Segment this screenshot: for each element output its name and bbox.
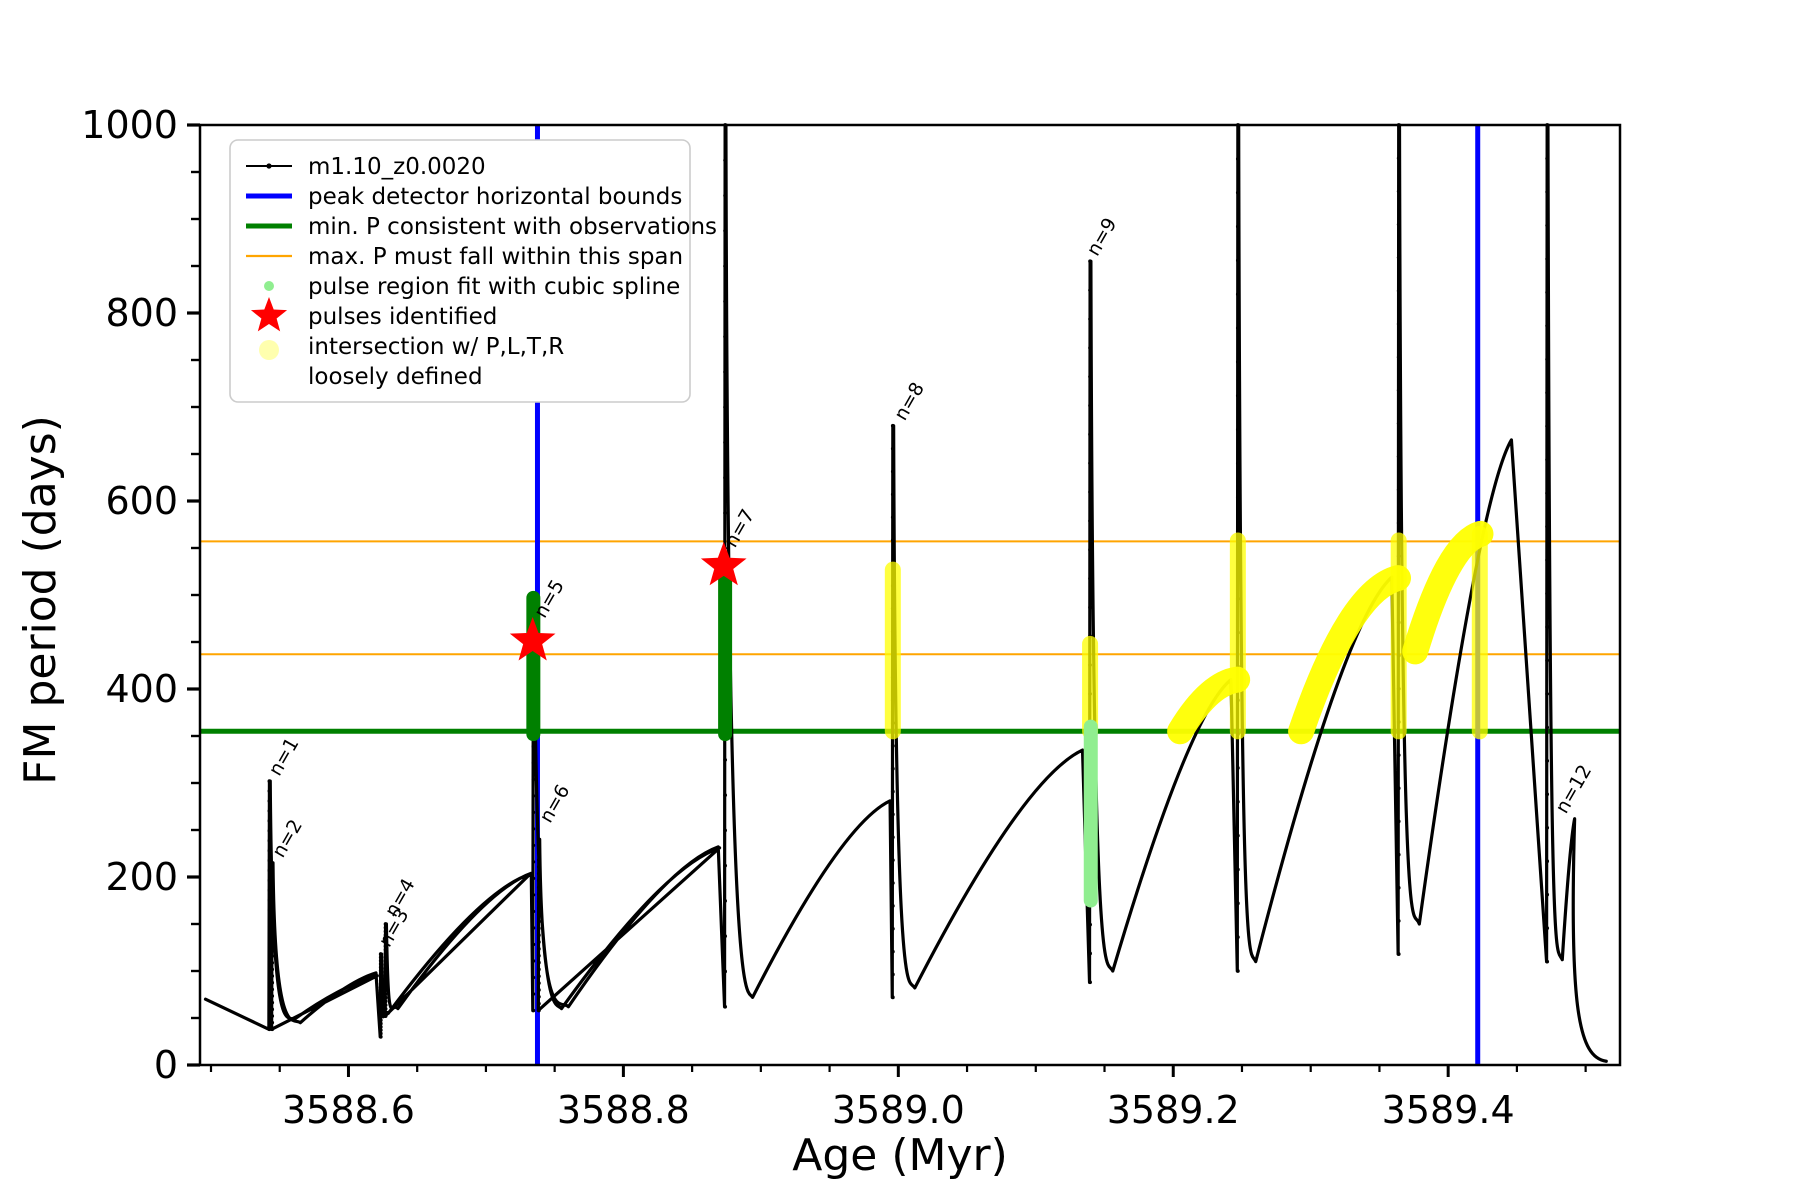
track-dot xyxy=(531,811,535,815)
track-dot xyxy=(537,851,541,855)
track-dot xyxy=(1397,289,1401,293)
track-dot xyxy=(537,968,541,972)
track-dot xyxy=(537,947,541,951)
track-dot xyxy=(268,829,272,833)
track-dot xyxy=(723,264,727,268)
track-dot xyxy=(379,962,383,966)
track-dot xyxy=(270,974,274,978)
track-dot xyxy=(268,779,272,783)
track-dot xyxy=(270,908,274,912)
x-tick-label: 3589.0 xyxy=(832,1088,965,1132)
legend-dot-swatch xyxy=(259,340,279,360)
track-dot xyxy=(384,1003,388,1007)
track-dot xyxy=(270,914,274,918)
track-dot xyxy=(723,1005,727,1009)
track-dot xyxy=(1545,659,1549,663)
x-axis-label: Age (Myr) xyxy=(0,1130,1800,1181)
track-dot xyxy=(891,904,895,908)
track-dot xyxy=(1088,490,1092,494)
chart-legend[interactable]: m1.10_z0.0020peak detector horizontal bo… xyxy=(230,140,717,402)
track-dot xyxy=(1545,859,1549,863)
track-dot xyxy=(379,985,383,989)
track-dot xyxy=(537,865,541,869)
track-dot xyxy=(379,982,383,986)
track-dot xyxy=(1545,190,1549,194)
track-dot xyxy=(723,934,727,938)
y-tick-label: 800 xyxy=(105,291,178,335)
track-dot xyxy=(1545,625,1549,629)
track-dot xyxy=(379,1002,383,1006)
track-dot xyxy=(270,928,274,932)
track-dot xyxy=(1088,548,1092,552)
track-dot xyxy=(531,827,535,831)
track-dot xyxy=(1545,491,1549,495)
track-dot xyxy=(537,920,541,924)
track-dot xyxy=(1397,919,1401,923)
track-dot xyxy=(379,955,383,959)
track-dot xyxy=(1236,225,1240,229)
track-dot xyxy=(723,793,727,797)
track-dot xyxy=(384,955,388,959)
track-dot xyxy=(1236,191,1240,195)
track-dot xyxy=(268,938,272,942)
track-dot xyxy=(1545,558,1549,562)
track-dot xyxy=(723,511,727,515)
track-dot xyxy=(537,961,541,965)
track-dot xyxy=(1236,901,1240,905)
legend-dot-swatch xyxy=(264,281,274,291)
track-dot xyxy=(1088,317,1092,321)
track-dot xyxy=(1545,458,1549,462)
track-dot xyxy=(270,894,274,898)
track-dot xyxy=(384,974,388,978)
track-dot xyxy=(379,1035,383,1039)
track-dot xyxy=(1397,256,1401,260)
track-dot xyxy=(1545,893,1549,897)
track-dot xyxy=(1088,923,1092,927)
track-dot xyxy=(537,879,541,883)
track-dot xyxy=(379,995,383,999)
track-dot xyxy=(891,858,895,862)
track-dot xyxy=(379,972,383,976)
track-dot xyxy=(384,952,388,956)
track-dot xyxy=(1397,388,1401,392)
track-dot xyxy=(379,959,383,963)
track-dot xyxy=(1088,404,1092,408)
track-dot xyxy=(1397,952,1401,956)
track-dot xyxy=(723,229,727,233)
track-dot xyxy=(270,948,274,952)
track-dot xyxy=(723,441,727,445)
track-dot xyxy=(1088,346,1092,350)
track-dot xyxy=(270,934,274,938)
track-dot xyxy=(723,299,727,303)
track-dot xyxy=(1545,290,1549,294)
track-dot xyxy=(1545,525,1549,529)
track-dot xyxy=(379,999,383,1003)
track-dot xyxy=(531,777,535,781)
track-dot xyxy=(1236,766,1240,770)
track-dot xyxy=(531,926,535,930)
track-dot xyxy=(1397,455,1401,459)
track-dot xyxy=(379,1005,383,1009)
track-dot xyxy=(1545,725,1549,729)
track-dot xyxy=(1397,488,1401,492)
track-dot xyxy=(270,1001,274,1005)
x-tick-label: 3589.4 xyxy=(1382,1088,1515,1132)
track-dot xyxy=(1397,422,1401,426)
track-dot xyxy=(723,194,727,198)
track-dot xyxy=(531,976,535,980)
track-dot xyxy=(1236,292,1240,296)
track-dot xyxy=(270,861,274,865)
track-dot xyxy=(379,979,383,983)
track-dot xyxy=(268,898,272,902)
track-dot xyxy=(891,835,895,839)
track-dot xyxy=(1236,868,1240,872)
track-dot xyxy=(537,906,541,910)
track-dot xyxy=(384,996,388,1000)
track-dot xyxy=(384,963,388,967)
track-dot xyxy=(268,1017,272,1021)
track-dot xyxy=(537,892,541,896)
track-dot xyxy=(1088,605,1092,609)
y-tick-label: 600 xyxy=(105,479,178,523)
track-dot xyxy=(268,978,272,982)
track-dot xyxy=(537,1009,541,1013)
track-dot xyxy=(1397,853,1401,857)
track-dot xyxy=(1236,462,1240,466)
track-dot xyxy=(270,954,274,958)
track-dot xyxy=(537,913,541,917)
track-dot xyxy=(537,981,541,985)
track-dot xyxy=(891,767,895,771)
track-dot xyxy=(268,998,272,1002)
track-dot xyxy=(270,874,274,878)
track-dot xyxy=(1088,375,1092,379)
track-dot xyxy=(531,959,535,963)
track-dot xyxy=(270,1007,274,1011)
track-dot xyxy=(379,1008,383,1012)
track-dot xyxy=(1088,461,1092,465)
track-dot xyxy=(1236,428,1240,432)
track-dot xyxy=(891,424,895,428)
track-dot xyxy=(270,1021,274,1025)
legend-label: m1.10_z0.0020 xyxy=(308,154,486,180)
track-dot xyxy=(723,476,727,480)
track-dot xyxy=(537,988,541,992)
track-dot xyxy=(384,948,388,952)
track-dot xyxy=(270,888,274,892)
track-dot xyxy=(537,858,541,862)
track-dot xyxy=(1545,324,1549,328)
track-dot xyxy=(270,901,274,905)
track-dot xyxy=(891,973,895,977)
track-dot xyxy=(384,988,388,992)
track-dot xyxy=(270,987,274,991)
legend-label: peak detector horizontal bounds xyxy=(308,184,682,210)
track-dot xyxy=(270,941,274,945)
fm-period-vs-age-plot: n=1n=2n=3n=4n=5n=6n=7n=8n=9n=12 3588.635… xyxy=(0,0,1800,1200)
track-dot xyxy=(891,995,895,999)
track-dot xyxy=(1545,826,1549,830)
track-dot xyxy=(384,999,388,1003)
track-dot xyxy=(891,950,895,954)
track-dot xyxy=(270,881,274,885)
track-dot xyxy=(531,910,535,914)
track-dot xyxy=(379,1012,383,1016)
y-tick-label: 200 xyxy=(105,855,178,899)
track-dot xyxy=(1545,926,1549,930)
track-dot xyxy=(1545,357,1549,361)
track-dot xyxy=(1545,792,1549,796)
track-dot xyxy=(1397,886,1401,890)
track-dot xyxy=(379,952,383,956)
track-dot xyxy=(384,977,388,981)
track-dot xyxy=(268,819,272,823)
track-dot xyxy=(379,1022,383,1026)
track-dot xyxy=(891,813,895,817)
track-dot xyxy=(1236,935,1240,939)
x-tick-label: 3589.2 xyxy=(1107,1088,1240,1132)
track-dot xyxy=(723,828,727,832)
chart-root: n=1n=2n=3n=4n=5n=6n=7n=8n=9n=12 3588.635… xyxy=(0,0,1800,1200)
track-dot xyxy=(531,943,535,947)
y-tick-label: 1000 xyxy=(81,103,178,147)
track-dot xyxy=(537,885,541,889)
track-dot xyxy=(379,965,383,969)
track-dot xyxy=(1397,156,1401,160)
track-dot xyxy=(1236,969,1240,973)
track-dot xyxy=(1236,326,1240,330)
track-dot xyxy=(1397,223,1401,227)
track-dot xyxy=(379,1028,383,1032)
track-dot xyxy=(268,958,272,962)
track-dot xyxy=(268,809,272,813)
track-dot xyxy=(270,994,274,998)
track-dot xyxy=(531,761,535,765)
track-dot xyxy=(537,1002,541,1006)
track-dot xyxy=(1545,592,1549,596)
track-dot xyxy=(379,1018,383,1022)
track-dot xyxy=(891,515,895,519)
track-dot xyxy=(531,992,535,996)
track-dot xyxy=(723,758,727,762)
track-dot xyxy=(531,1009,535,1013)
track-dot xyxy=(891,492,895,496)
track-dot xyxy=(891,538,895,542)
track-dot xyxy=(891,447,895,451)
track-dot xyxy=(1236,529,1240,533)
y-tick-label: 400 xyxy=(105,667,178,711)
track-dot xyxy=(384,1014,388,1018)
track-dot xyxy=(1545,257,1549,261)
legend-label: min. P consistent with observations xyxy=(308,214,717,240)
track-dot xyxy=(531,877,535,881)
track-dot xyxy=(891,790,895,794)
track-dot xyxy=(531,844,535,848)
track-dot xyxy=(268,918,272,922)
track-dot xyxy=(1088,519,1092,523)
track-dot xyxy=(537,844,541,848)
x-tick-label: 3588.6 xyxy=(282,1088,415,1132)
track-dot xyxy=(723,158,727,162)
track-dot xyxy=(1397,820,1401,824)
track-dot xyxy=(379,992,383,996)
track-dot xyxy=(379,1032,383,1036)
track-dot xyxy=(270,868,274,872)
track-dot xyxy=(537,974,541,978)
track-dot xyxy=(1545,692,1549,696)
track-dot xyxy=(1088,577,1092,581)
track-dot xyxy=(1545,960,1549,964)
track-dot xyxy=(270,961,274,965)
track-dot xyxy=(1545,759,1549,763)
track-dot xyxy=(1088,432,1092,436)
track-dot xyxy=(723,370,727,374)
track-dot xyxy=(531,860,535,864)
track-dot xyxy=(384,1011,388,1015)
track-dot xyxy=(384,981,388,985)
track-dot xyxy=(531,893,535,897)
legend-label: loosely defined xyxy=(308,364,483,390)
track-dot xyxy=(1236,394,1240,398)
track-dot xyxy=(1397,786,1401,790)
track-dot xyxy=(1236,258,1240,262)
track-dot xyxy=(531,794,535,798)
track-dot xyxy=(891,927,895,931)
legend-dot-swatch xyxy=(266,163,271,168)
track-dot xyxy=(537,940,541,944)
track-dot xyxy=(1545,157,1549,161)
track-dot xyxy=(1397,521,1401,525)
x-tick-label: 3588.8 xyxy=(557,1088,690,1132)
track-dot xyxy=(1545,223,1549,227)
track-dot xyxy=(537,838,541,842)
track-dot xyxy=(268,839,272,843)
track-dot xyxy=(384,970,388,974)
track-dot xyxy=(891,881,895,885)
legend-label: max. P must fall within this span xyxy=(308,244,683,270)
track-dot xyxy=(1397,322,1401,326)
track-dot xyxy=(270,1014,274,1018)
track-dot xyxy=(384,966,388,970)
track-dot xyxy=(270,981,274,985)
track-dot xyxy=(1236,834,1240,838)
track-dot xyxy=(1088,259,1092,263)
track-dot xyxy=(537,899,541,903)
track-dot xyxy=(268,789,272,793)
track-dot xyxy=(1397,355,1401,359)
track-dot xyxy=(270,967,274,971)
track-dot xyxy=(379,1025,383,1029)
track-dot xyxy=(723,899,727,903)
track-dot xyxy=(891,470,895,474)
track-dot xyxy=(1088,288,1092,292)
track-dot xyxy=(723,864,727,868)
track-dot xyxy=(1236,495,1240,499)
track-dot xyxy=(379,975,383,979)
track-dot xyxy=(379,1015,383,1019)
legend-label: pulses identified xyxy=(308,304,497,330)
track-dot xyxy=(1236,157,1240,161)
track-dot xyxy=(268,799,272,803)
track-dot xyxy=(537,926,541,930)
legend-label: pulse region fit with cubic spline xyxy=(308,274,680,300)
track-dot xyxy=(379,969,383,973)
track-dot xyxy=(1397,189,1401,193)
track-dot xyxy=(891,744,895,748)
track-dot xyxy=(384,985,388,989)
track-dot xyxy=(384,992,388,996)
track-dot xyxy=(537,933,541,937)
track-dot xyxy=(723,335,727,339)
track-dot xyxy=(723,970,727,974)
track-dot xyxy=(379,989,383,993)
track-dot xyxy=(537,872,541,876)
track-dot xyxy=(270,921,274,925)
legend-label: intersection w/ P,L,T,R xyxy=(308,334,564,360)
track-dot xyxy=(1088,980,1092,984)
track-dot xyxy=(1545,391,1549,395)
track-dot xyxy=(537,954,541,958)
track-dot xyxy=(1545,424,1549,428)
track-dot xyxy=(723,405,727,409)
track-dot xyxy=(384,959,388,963)
track-dot xyxy=(384,1007,388,1011)
y-tick-label: 0 xyxy=(154,1043,178,1087)
track-dot xyxy=(1397,753,1401,757)
track-dot xyxy=(1236,360,1240,364)
track-dot xyxy=(537,995,541,999)
track-dot xyxy=(1236,800,1240,804)
track-dot xyxy=(270,1027,274,1031)
track-dot xyxy=(531,744,535,748)
track-dot xyxy=(1088,952,1092,956)
